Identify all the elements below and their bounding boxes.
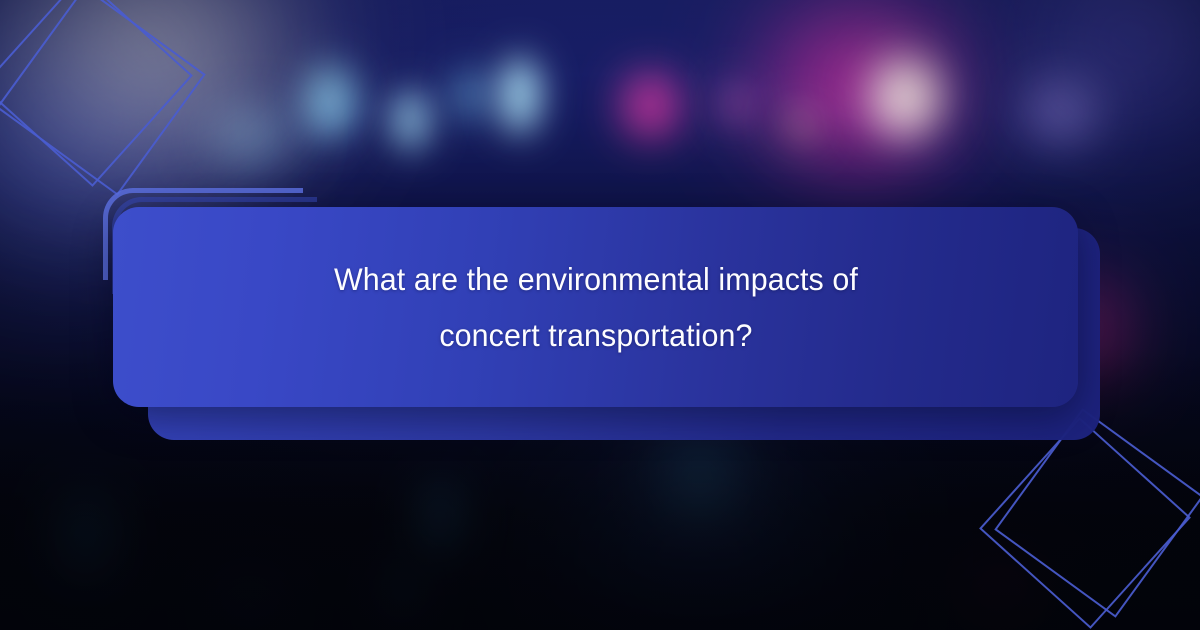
question-text: What are the environmental impacts of co… [195, 251, 996, 363]
poster-canvas: What are the environmental impacts of co… [0, 0, 1200, 630]
question-card[interactable]: What are the environmental impacts of co… [113, 207, 1078, 407]
